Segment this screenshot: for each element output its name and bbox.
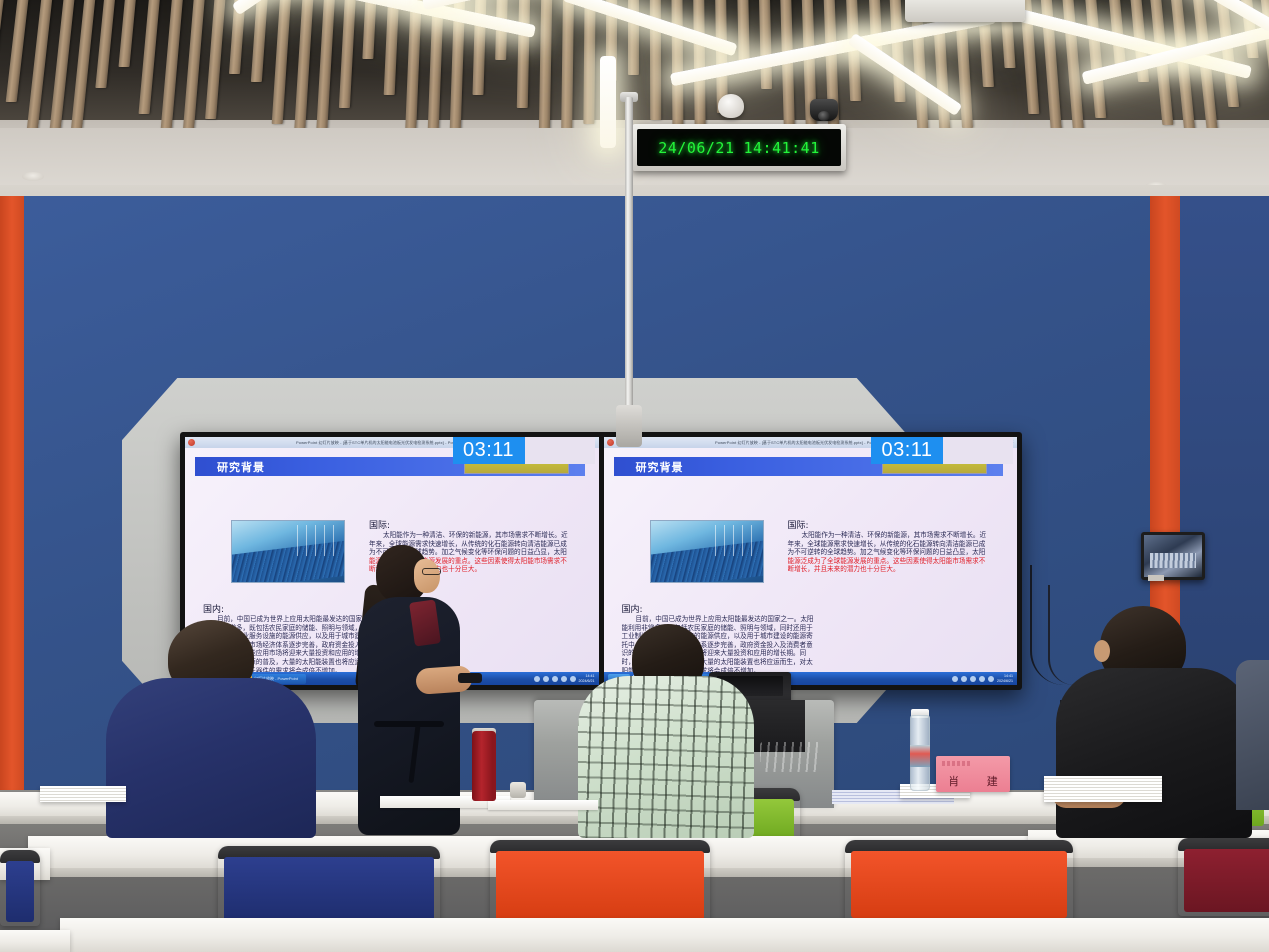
chair-orange[interactable] bbox=[845, 840, 1073, 922]
wood-slat bbox=[583, 0, 595, 124]
solar-panel-array-photo bbox=[650, 520, 764, 583]
wood-slat bbox=[561, 0, 574, 146]
slide-body-right: 国际: 太阳能作为一种清洁、环保的新能源，其市场需求不断增长。近 年来，全球能源… bbox=[612, 476, 1010, 482]
tray-icon[interactable] bbox=[961, 676, 967, 682]
network-icon[interactable] bbox=[570, 676, 576, 682]
chair-mesh-back bbox=[6, 861, 34, 922]
chair-mesh-back bbox=[851, 851, 1067, 918]
paper-sheet bbox=[488, 800, 598, 810]
powerpoint-logo-icon bbox=[607, 439, 614, 446]
slide-title: 研究背景 bbox=[217, 459, 265, 475]
tray-icon[interactable] bbox=[952, 676, 958, 682]
slide-line-highlight: 断增长，并且未来的潜力也十分巨大。 bbox=[788, 565, 1018, 574]
taskbar-clock-date: 2024/6/21 bbox=[997, 679, 1013, 683]
ceiling bbox=[0, 0, 1269, 205]
nameplate: 肖 建 bbox=[936, 756, 1010, 792]
display-mount-pole bbox=[625, 97, 633, 445]
led-clock-time: 14:41:41 bbox=[744, 139, 820, 157]
slide-line: 目前，中国已成为世界上应用太阳能最发达的国家之一。太阳 bbox=[622, 615, 882, 624]
slide-line: 年来，全球能源需求快速增长，从传统的化石能源转向清洁能源已成 bbox=[788, 540, 1018, 549]
podium-vent-grille bbox=[760, 742, 822, 772]
bottle-label bbox=[910, 745, 930, 767]
red-thermos bbox=[472, 731, 496, 801]
presentation-clicker[interactable] bbox=[458, 673, 482, 683]
chair-orange[interactable] bbox=[490, 840, 710, 924]
chair-blue[interactable] bbox=[218, 846, 440, 926]
attendee-left bbox=[106, 620, 316, 835]
chair-mesh-back bbox=[496, 851, 704, 920]
solar-panel-array-photo bbox=[231, 520, 345, 583]
attendee-right-ear bbox=[1094, 640, 1110, 662]
desk-row-front bbox=[60, 918, 1269, 952]
network-icon[interactable] bbox=[988, 676, 994, 682]
presentation-timer-left: 03:11 bbox=[453, 437, 525, 464]
attendee-right-body bbox=[1056, 668, 1252, 838]
section-heading: 国际: bbox=[369, 518, 599, 531]
downlight-icon bbox=[22, 172, 44, 181]
projector-housing bbox=[905, 0, 1025, 22]
slide-body-left: 国际: 太阳能作为一种清洁、环保的新能源，其市场需求不断增长。近 年来，全球能源… bbox=[193, 476, 591, 482]
attendee-center-body bbox=[578, 676, 754, 838]
wall-mounted-monitor[interactable] bbox=[1141, 532, 1205, 580]
timer-backdrop bbox=[525, 437, 595, 464]
tray-icon[interactable] bbox=[552, 676, 558, 682]
tray-icon[interactable] bbox=[970, 676, 976, 682]
slide-line: 太阳能作为一种清洁、环保的新能源，其市场需求不断增长。近 bbox=[369, 531, 599, 540]
attendee-far-right bbox=[1236, 660, 1269, 810]
led-clock-date: 24/06/21 bbox=[658, 139, 734, 157]
attendee-center bbox=[578, 624, 754, 836]
presentation-timer-right: 03:11 bbox=[871, 437, 943, 464]
nameplate-text: 肖 建 bbox=[936, 773, 1010, 789]
conference-room-scene: 24/06/21 14:41:41 PowerPoint 幻灯片放映 - [基于… bbox=[0, 0, 1269, 952]
security-camera-icon bbox=[810, 99, 838, 121]
chair-edge-left[interactable] bbox=[0, 850, 40, 926]
section-heading: 国内: bbox=[622, 602, 882, 615]
desk-row-front-left bbox=[0, 930, 70, 952]
presenter-belt bbox=[374, 721, 444, 727]
wood-slat bbox=[759, 0, 772, 89]
pole-bracket bbox=[616, 405, 642, 447]
slide-line: 为不可逆转的全球趋势。加之气候变化等环保问题的日益凸显，太阳 bbox=[788, 548, 1018, 557]
volume-icon[interactable] bbox=[979, 676, 985, 682]
chair-mesh-back bbox=[224, 857, 434, 922]
timer-value: 03:11 bbox=[463, 439, 514, 462]
wood-slat bbox=[737, 0, 749, 66]
section-international: 国际: 太阳能作为一种清洁、环保的新能源，其市场需求不断增长。近 年来，全球能源… bbox=[788, 518, 1018, 574]
led-wall-clock: 24/06/21 14:41:41 bbox=[632, 124, 846, 171]
hex-light-segment bbox=[600, 56, 616, 148]
system-tray[interactable]: 14:41 2024/6/21 bbox=[952, 674, 1013, 683]
chair-mesh-back bbox=[1184, 849, 1269, 912]
tray-icon[interactable] bbox=[534, 676, 540, 682]
timer-value: 03:11 bbox=[881, 439, 932, 462]
presenter-face bbox=[414, 559, 440, 593]
slide-line: 太阳能作为一种清洁、环保的新能源，其市场需求不断增长。近 bbox=[788, 531, 1018, 540]
orange-pillar-left bbox=[0, 196, 24, 806]
attendee-left-body bbox=[106, 678, 316, 838]
nameplate-logo-icon bbox=[942, 761, 972, 766]
taskbar-clock[interactable]: 14:41 2024/6/21 bbox=[997, 674, 1013, 683]
monitor-stand bbox=[1148, 575, 1164, 581]
paper-stack bbox=[40, 786, 126, 802]
section-heading: 国际: bbox=[788, 518, 1018, 531]
presenter bbox=[330, 545, 470, 835]
volume-icon[interactable] bbox=[561, 676, 567, 682]
paper-stack bbox=[1044, 776, 1162, 802]
tray-icon[interactable] bbox=[543, 676, 549, 682]
chair-red[interactable] bbox=[1178, 838, 1269, 916]
led-clock-screen: 24/06/21 14:41:41 bbox=[637, 129, 841, 166]
glasses-icon bbox=[422, 568, 441, 575]
small-cup bbox=[510, 782, 526, 798]
powerpoint-logo-icon bbox=[188, 439, 195, 446]
security-camera-feed bbox=[1144, 535, 1202, 577]
slide-title: 研究背景 bbox=[636, 459, 684, 475]
timer-backdrop bbox=[943, 437, 1013, 464]
ceiling-speaker-icon bbox=[718, 94, 744, 118]
